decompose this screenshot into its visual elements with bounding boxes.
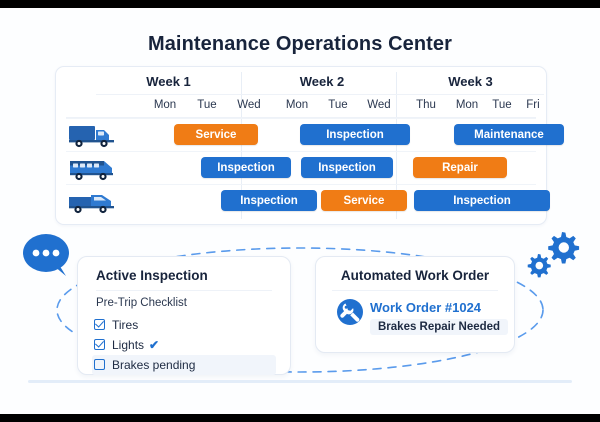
bottom-divider bbox=[28, 380, 572, 383]
schedule-bar[interactable]: Service bbox=[174, 124, 258, 145]
checkbox-wrap bbox=[94, 339, 112, 350]
diagram-canvas: Maintenance Operations Center Week 1 Wee… bbox=[0, 8, 600, 414]
panel-divider bbox=[96, 290, 272, 291]
checklist-item-tires[interactable]: Tires bbox=[94, 315, 138, 334]
day-label-w3-thu: Thu bbox=[407, 99, 445, 111]
day-label-w3-mon: Mon bbox=[448, 99, 486, 111]
panel-divider bbox=[332, 290, 498, 291]
checklist-item-label: Brakes pending bbox=[112, 358, 195, 372]
checklist-item-brakes[interactable]: Brakes pending bbox=[94, 355, 195, 374]
checkbox-unchecked-icon[interactable] bbox=[94, 359, 105, 370]
schedule-bar[interactable]: Inspection bbox=[221, 190, 317, 211]
day-label-w1-tue: Tue bbox=[188, 99, 226, 111]
week-header-2: Week 2 bbox=[252, 74, 392, 89]
week-header-1: Week 1 bbox=[96, 74, 241, 89]
day-label-w2-wed: Wed bbox=[360, 99, 398, 111]
day-label-w3-fri: Fri bbox=[514, 99, 552, 111]
schedule-row-pickup-truck: Inspection Service Inspection bbox=[56, 185, 546, 217]
gears-icon bbox=[518, 230, 588, 288]
schedule-bar[interactable]: Repair bbox=[413, 157, 507, 178]
work-order-id[interactable]: Work Order #1024 bbox=[370, 300, 481, 315]
check-mark-icon: ✔ bbox=[149, 338, 159, 352]
inspection-panel-title: Active Inspection bbox=[78, 268, 290, 283]
pickup-truck-icon bbox=[68, 189, 118, 214]
schedule-bar[interactable]: Inspection bbox=[300, 124, 410, 145]
box-truck-icon bbox=[68, 123, 118, 148]
chat-bubble-icon bbox=[18, 230, 78, 282]
week-header-3: Week 3 bbox=[403, 74, 538, 89]
schedule-row-box-truck: Service Inspection Maintenance bbox=[56, 119, 546, 151]
week-header-rule bbox=[96, 94, 544, 95]
day-label-w2-mon: Mon bbox=[278, 99, 316, 111]
schedule-card: Week 1 Week 2 Week 3 Mon Tue Wed Mon Tue… bbox=[55, 66, 547, 225]
page-title: Maintenance Operations Center bbox=[0, 33, 600, 56]
day-label-w1-mon: Mon bbox=[146, 99, 184, 111]
schedule-bar[interactable]: Inspection bbox=[301, 157, 393, 178]
schedule-bar[interactable]: Inspection bbox=[414, 190, 550, 211]
checklist-item-label: Tires bbox=[112, 318, 138, 332]
day-label-w2-tue: Tue bbox=[319, 99, 357, 111]
wrench-tools-icon bbox=[336, 298, 364, 326]
schedule-bar[interactable]: Inspection bbox=[201, 157, 291, 178]
schedule-bar[interactable]: Service bbox=[321, 190, 407, 211]
checklist-item-label: Lights bbox=[112, 338, 144, 352]
checkbox-checked-icon[interactable] bbox=[94, 319, 105, 330]
day-label-w1-wed: Wed bbox=[230, 99, 268, 111]
automated-work-order-card: Automated Work Order Work Order #1024 Br… bbox=[315, 256, 515, 353]
workorder-panel-title: Automated Work Order bbox=[316, 268, 514, 283]
checkbox-wrap bbox=[94, 319, 112, 330]
schedule-row-bus: Inspection Inspection Repair bbox=[56, 152, 546, 184]
schedule-bar[interactable]: Maintenance bbox=[454, 124, 564, 145]
checkbox-wrap bbox=[94, 359, 112, 370]
checkbox-checked-icon[interactable] bbox=[94, 339, 105, 350]
bus-icon bbox=[68, 156, 118, 181]
checklist-item-lights[interactable]: Lights ✔ bbox=[94, 335, 159, 354]
checklist-subtitle: Pre-Trip Checklist bbox=[96, 297, 187, 309]
active-inspection-card: Active Inspection Pre-Trip Checklist Tir… bbox=[77, 256, 291, 375]
work-order-status-badge: Brakes Repair Needed bbox=[370, 319, 508, 335]
